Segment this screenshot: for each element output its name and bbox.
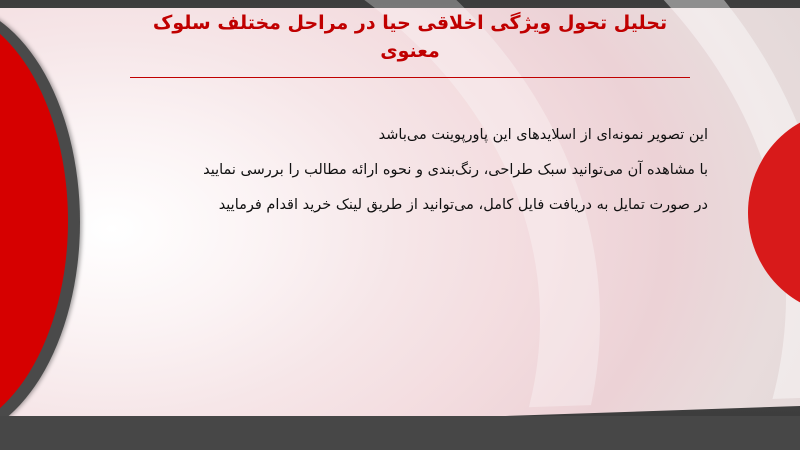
background-band-1 [0,0,800,450]
bottom-frame-wedge [0,416,800,450]
body-line-3: در صورت تمایل به دریافت فایل کامل، می‌تو… [98,188,708,223]
background-band-4 [0,0,800,450]
right-red-circle-decoration [748,110,800,315]
body-line-2: با مشاهده آن می‌توانید سبک طراحی، رنگ‌بن… [98,153,708,188]
slide-title-line-2: معنوی [130,38,690,66]
background-band-6 [0,0,800,450]
slide-title: تحلیل تحول ویژگی اخلاقی حیا در مراحل مخت… [130,10,690,65]
background-band-5 [0,0,600,450]
slide-title-line-1: تحلیل تحول ویژگی اخلاقی حیا در مراحل مخت… [130,10,690,38]
presentation-slide: تحلیل تحول ویژگی اخلاقی حیا در مراحل مخت… [0,0,800,450]
slide-body-text: این تصویر نمونه‌ای از اسلایدهای این پاور… [98,118,708,223]
title-underline-rule [130,77,690,78]
background-band-3 [0,0,800,450]
slide-decoration-layer [0,0,800,450]
body-line-1: این تصویر نمونه‌ای از اسلایدهای این پاور… [98,118,708,153]
background-band-2 [0,0,800,450]
